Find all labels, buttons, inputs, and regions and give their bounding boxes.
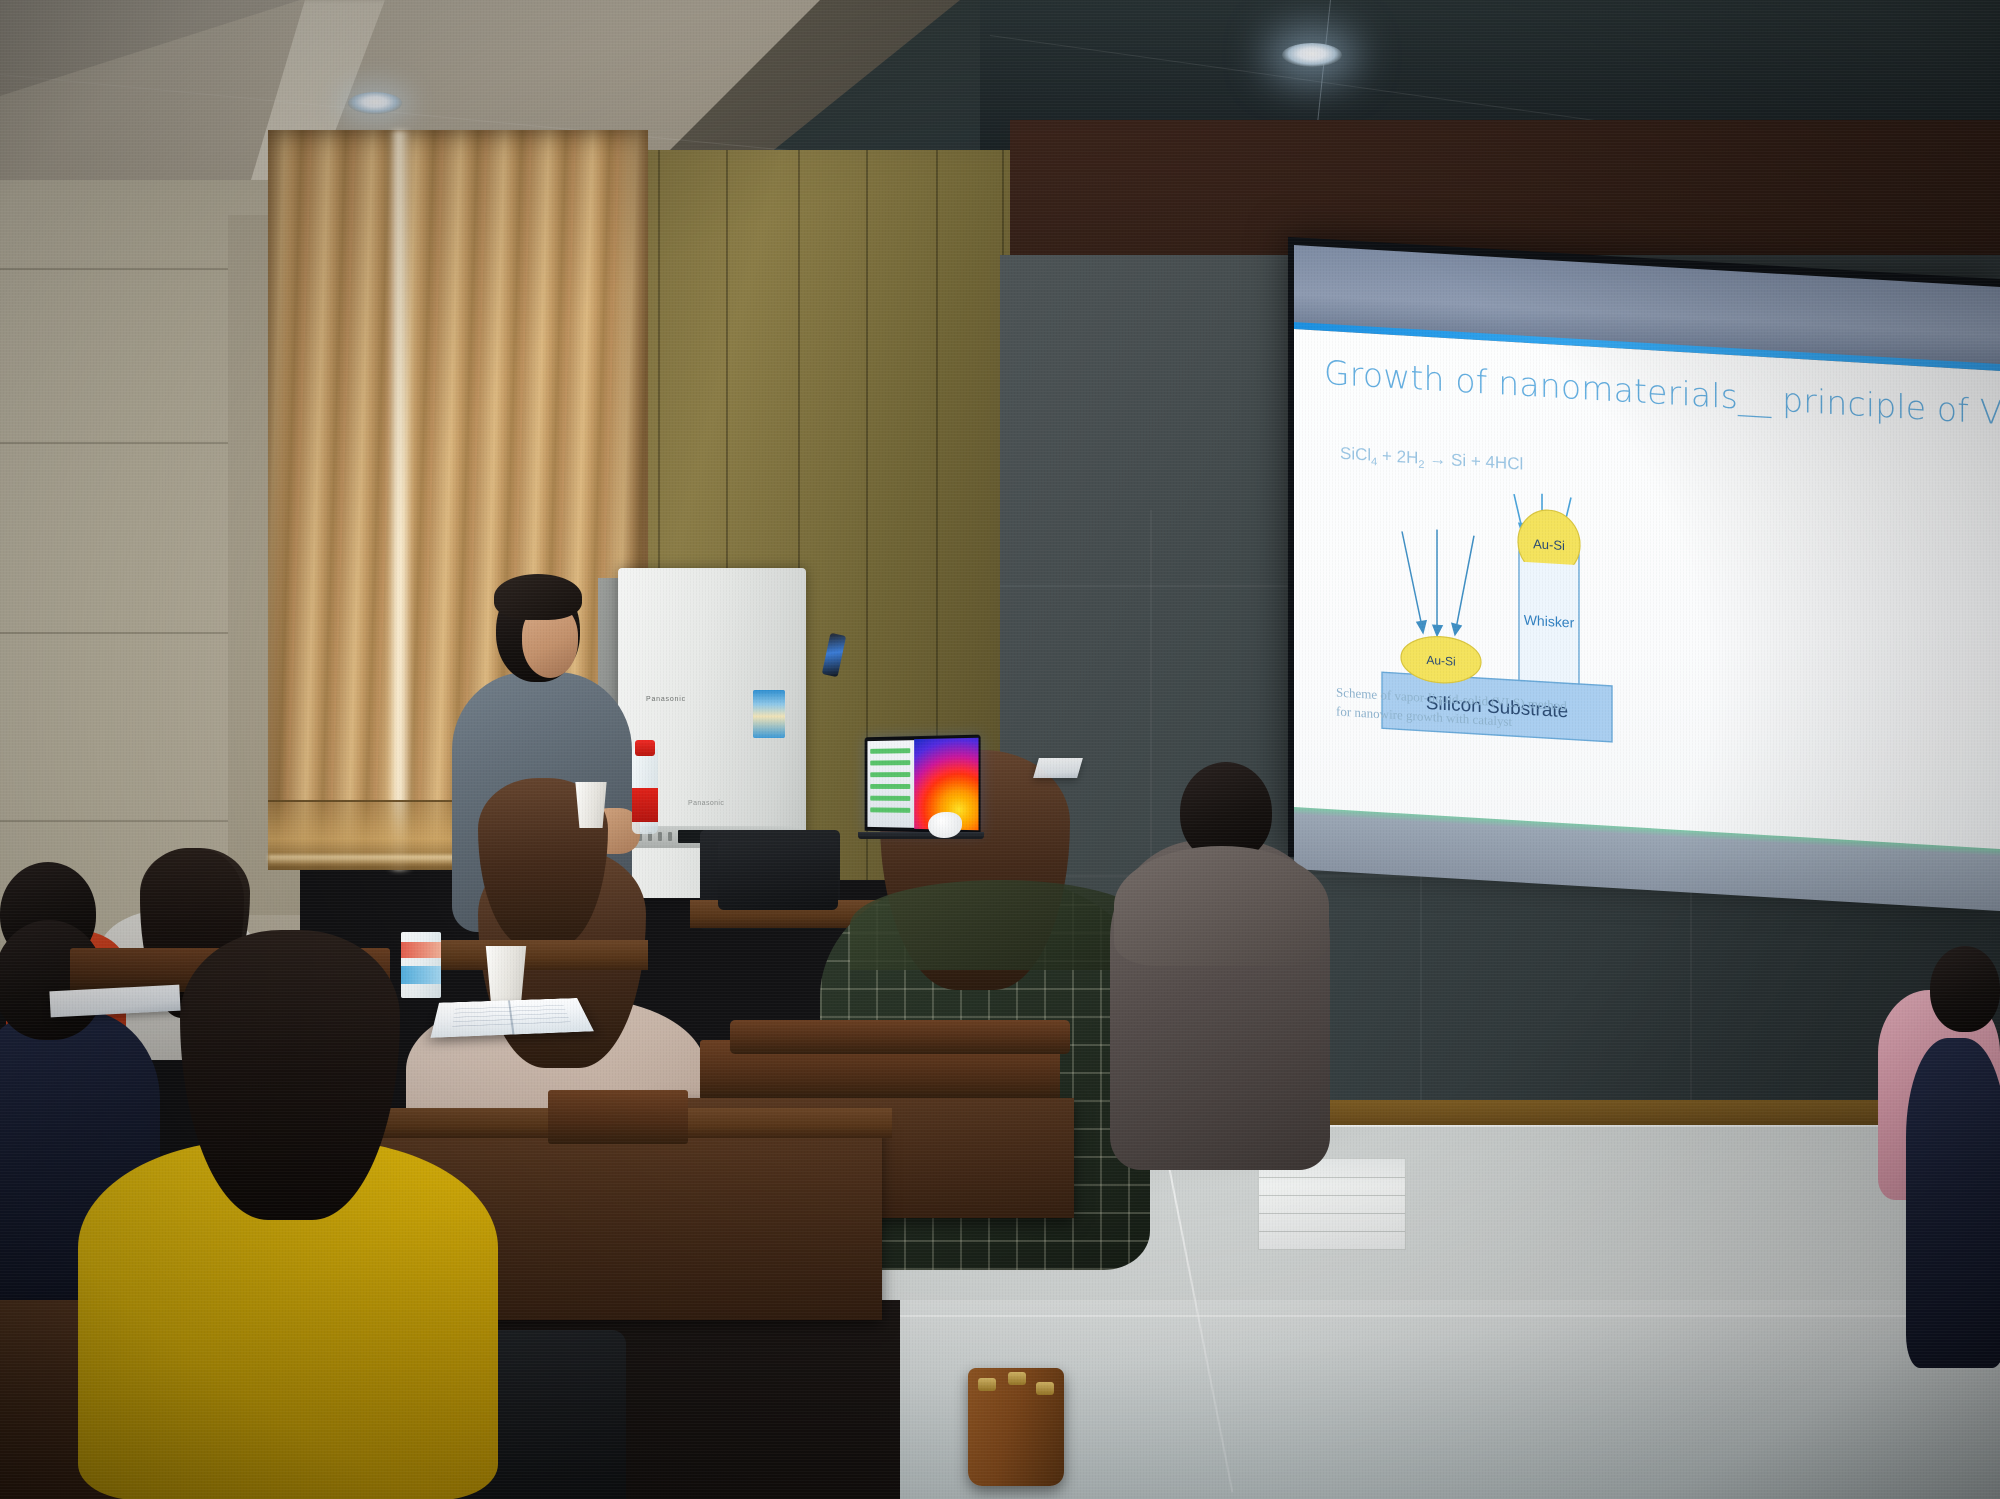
bench-mid-rail[interactable]: [730, 1020, 1070, 1054]
paper-cup[interactable]: [484, 946, 528, 1004]
presenter-hair: [494, 574, 582, 620]
projection-screen-surface[interactable]: Growth of nanomaterials__ principle of V…: [1294, 329, 2000, 851]
ac-model-text: Panasonic: [688, 800, 724, 807]
bottle-cap[interactable]: [635, 740, 655, 756]
milk-carton[interactable]: [401, 932, 441, 998]
bag-on-chair: [718, 840, 838, 910]
attendee-right-head: [1930, 946, 2000, 1032]
vapor-arrows-left: [1402, 527, 1474, 637]
bench-front[interactable]: [548, 1090, 688, 1144]
attendee-plaid-collar: [850, 880, 1150, 970]
vls-diagram: Silicon Substrate Whisker Au-Si Au-Si: [1294, 329, 2000, 851]
laptop-base: [858, 832, 984, 839]
ac-brand-label: Panasonic: [646, 696, 686, 703]
ceiling-downlight-icon: [348, 92, 402, 114]
laptop-screen[interactable]: [865, 735, 981, 834]
open-book[interactable]: [430, 998, 593, 1038]
whisker-label: Whisker: [1524, 612, 1575, 631]
ac-vent-grille: [1258, 1158, 1406, 1250]
droplet-base-label: Au-Si: [1426, 653, 1455, 669]
ac-button[interactable]: [668, 832, 672, 841]
attendee-rightnavy-body: [1906, 1038, 2000, 1368]
ac-energy-label-sticker: [753, 690, 785, 738]
ac-button[interactable]: [658, 832, 662, 841]
lecture-hall-scene: Growth of nanomaterials__ principle of V…: [0, 0, 2000, 1499]
ceiling-downlight-icon: [1282, 43, 1342, 67]
desk-mid-left: [408, 940, 648, 970]
droplet-top-label: Au-Si: [1533, 536, 1565, 553]
curtain-light-streak: [388, 130, 412, 870]
laptop-side-panel: [867, 740, 915, 828]
paper-cup[interactable]: [574, 782, 608, 828]
attendee-hood-hood: [1114, 846, 1329, 966]
tissue: [928, 812, 962, 838]
papers[interactable]: [1033, 758, 1083, 778]
handbag[interactable]: [968, 1368, 1064, 1486]
bottle-label: [632, 788, 658, 822]
